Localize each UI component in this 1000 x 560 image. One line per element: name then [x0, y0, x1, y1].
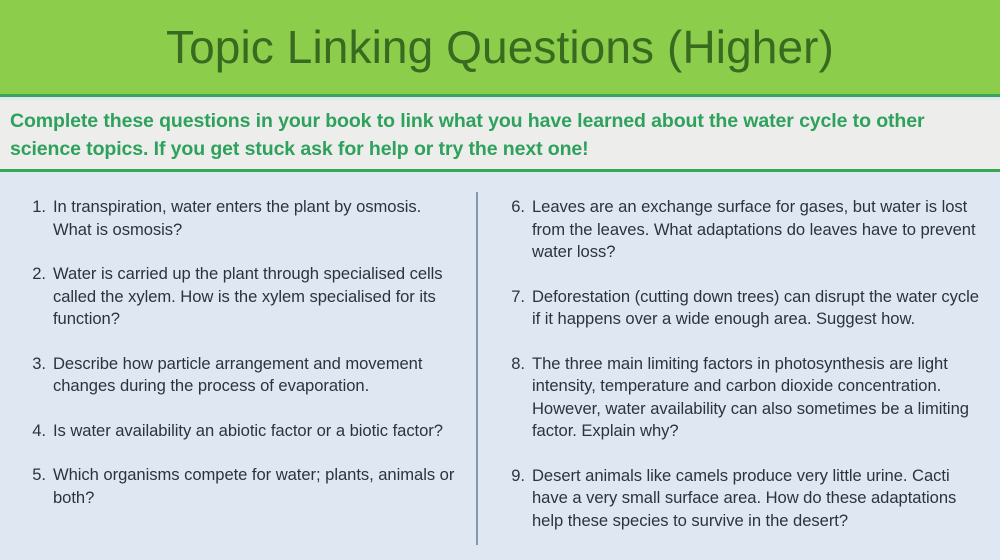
question-item: 6. Leaves are an exchange surface for ga… — [503, 196, 983, 264]
question-text: The three main limiting factors in photo… — [532, 354, 969, 441]
question-number: 3. — [24, 353, 46, 376]
question-number: 4. — [24, 420, 46, 443]
question-text: Deforestation (cutting down trees) can d… — [532, 287, 979, 329]
question-item: 7. Deforestation (cutting down trees) ca… — [503, 286, 983, 331]
question-text: Water is carried up the plant through sp… — [53, 264, 443, 328]
question-text: Is water availability an abiotic factor … — [53, 421, 443, 440]
question-text: Which organisms compete for water; plant… — [53, 465, 454, 507]
questions-column-left: 1. In transpiration, water enters the pl… — [24, 175, 464, 531]
question-item: 4. Is water availability an abiotic fact… — [24, 420, 464, 443]
question-number: 7. — [503, 286, 525, 309]
question-item: 9. Desert animals like camels produce ve… — [503, 465, 983, 533]
instruction-band: Complete these questions in your book to… — [0, 100, 1000, 172]
question-text: In transpiration, water enters the plant… — [53, 197, 421, 239]
page-title: Topic Linking Questions (Higher) — [166, 23, 834, 71]
question-text: Leaves are an exchange surface for gases… — [532, 197, 976, 261]
question-item: 8. The three main limiting factors in ph… — [503, 353, 983, 443]
question-text: Desert animals like camels produce very … — [532, 466, 956, 530]
question-item: 5. Which organisms compete for water; pl… — [24, 464, 464, 509]
question-list-left: 1. In transpiration, water enters the pl… — [24, 196, 464, 509]
column-divider — [476, 192, 478, 545]
question-number: 8. — [503, 353, 525, 376]
questions-body: 1. In transpiration, water enters the pl… — [0, 175, 1000, 560]
slide-root: Topic Linking Questions (Higher) Complet… — [0, 0, 1000, 560]
question-number: 1. — [24, 196, 46, 219]
question-item: 3. Describe how particle arrangement and… — [24, 353, 464, 398]
instruction-text: Complete these questions in your book to… — [10, 107, 988, 163]
question-list-right: 6. Leaves are an exchange surface for ga… — [503, 196, 983, 532]
question-number: 9. — [503, 465, 525, 488]
question-item: 2. Water is carried up the plant through… — [24, 263, 464, 331]
question-text: Describe how particle arrangement and mo… — [53, 354, 422, 396]
question-number: 2. — [24, 263, 46, 286]
question-number: 6. — [503, 196, 525, 219]
questions-column-right: 6. Leaves are an exchange surface for ga… — [503, 175, 983, 554]
question-number: 5. — [24, 464, 46, 487]
question-item: 1. In transpiration, water enters the pl… — [24, 196, 464, 241]
header-banner: Topic Linking Questions (Higher) — [0, 0, 1000, 97]
